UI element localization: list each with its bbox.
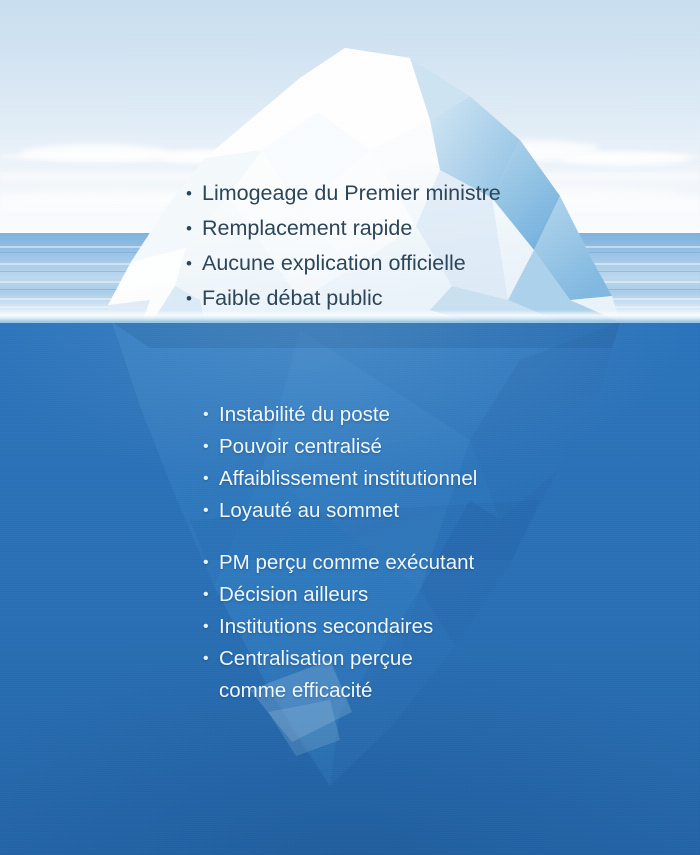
list-item: Institutions secondaires [203, 611, 474, 643]
list-item: Faible débat public [186, 281, 501, 316]
list-item: Affaiblissement institutionnel [203, 463, 477, 495]
list-item: Loyauté au sommet [203, 495, 477, 527]
list-item: Décision ailleurs [203, 579, 474, 611]
list-item: PM perçu comme exécutant [203, 547, 474, 579]
invisible-bullet-list-group-two: PM perçu comme exécutant Décision ailleu… [203, 547, 474, 707]
list-item: Aucune explication officielle [186, 246, 501, 281]
list-item: Instabilité du poste [203, 399, 477, 431]
list-item: Remplacement rapide [186, 211, 501, 246]
iceberg-infographic: VISIBLE Limogeage du Premier ministre Re… [0, 0, 700, 855]
list-item: Limogeage du Premier ministre [186, 176, 501, 211]
list-item: Centralisation perçue comme efficacité [203, 643, 474, 707]
invisible-bullet-list-group-one: Instabilité du poste Pouvoir centralisé … [203, 399, 477, 527]
list-item: Pouvoir centralisé [203, 431, 477, 463]
visible-bullet-list: Limogeage du Premier ministre Remplaceme… [186, 176, 501, 316]
